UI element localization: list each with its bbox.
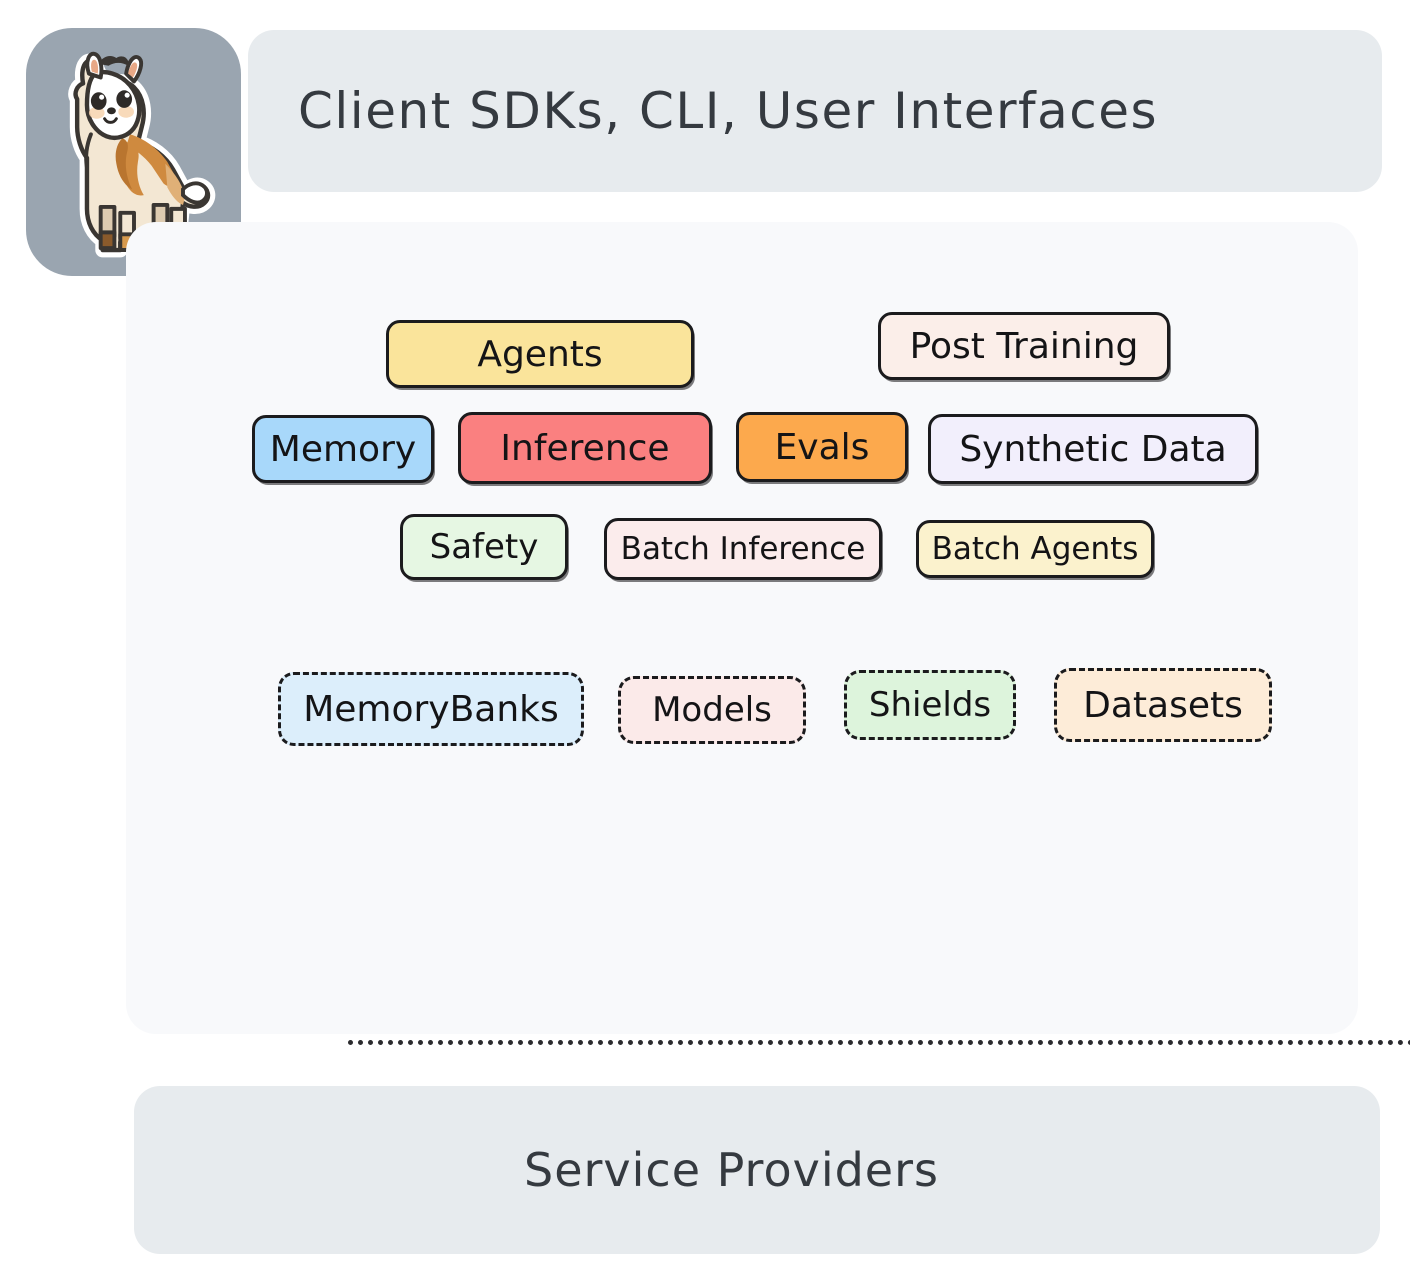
api-box-agents[interactable]: Agents <box>386 320 694 388</box>
resource-box-datasets[interactable]: Datasets <box>1054 668 1272 742</box>
resource-box-memorybanks[interactable]: MemoryBanks <box>278 672 584 746</box>
llama-stack-panel: Telemetry AgentsPost TrainingMemoryInfer… <box>126 222 1358 1034</box>
api-resource-divider <box>348 1040 1410 1045</box>
box-label: Shields <box>869 685 991 725</box>
box-label: MemoryBanks <box>303 689 559 730</box>
footer-title: Service Providers <box>524 1143 939 1197</box>
box-label: Datasets <box>1083 685 1243 726</box>
resource-box-models[interactable]: Models <box>618 676 806 744</box>
resource-box-shields[interactable]: Shields <box>844 670 1016 740</box>
box-label: Batch Inference <box>621 531 866 567</box>
api-box-batch-inference[interactable]: Batch Inference <box>604 518 882 580</box>
box-label: Evals <box>775 427 870 468</box>
box-label: Batch Agents <box>932 531 1139 567</box>
box-label: Post Training <box>910 326 1139 367</box>
api-box-batch-agents[interactable]: Batch Agents <box>916 520 1154 578</box>
box-label: Agents <box>477 334 602 375</box>
api-box-post-training[interactable]: Post Training <box>878 312 1170 380</box>
api-box-inference[interactable]: Inference <box>458 412 712 484</box>
box-label: Safety <box>430 527 539 567</box>
api-box-memory[interactable]: Memory <box>252 415 434 483</box>
client-layer-header: Client SDKs, CLI, User Interfaces <box>248 30 1382 192</box>
box-label: Memory <box>270 429 416 470</box>
box-label: Synthetic Data <box>959 429 1226 470</box>
service-providers-footer: Service Providers <box>134 1086 1380 1254</box>
box-label: Models <box>652 690 772 730</box>
header-title: Client SDKs, CLI, User Interfaces <box>298 82 1158 140</box>
api-box-synthetic-data[interactable]: Synthetic Data <box>928 414 1258 484</box>
api-box-evals[interactable]: Evals <box>736 412 908 482</box>
api-box-safety[interactable]: Safety <box>400 514 568 580</box>
box-label: Inference <box>500 428 669 469</box>
